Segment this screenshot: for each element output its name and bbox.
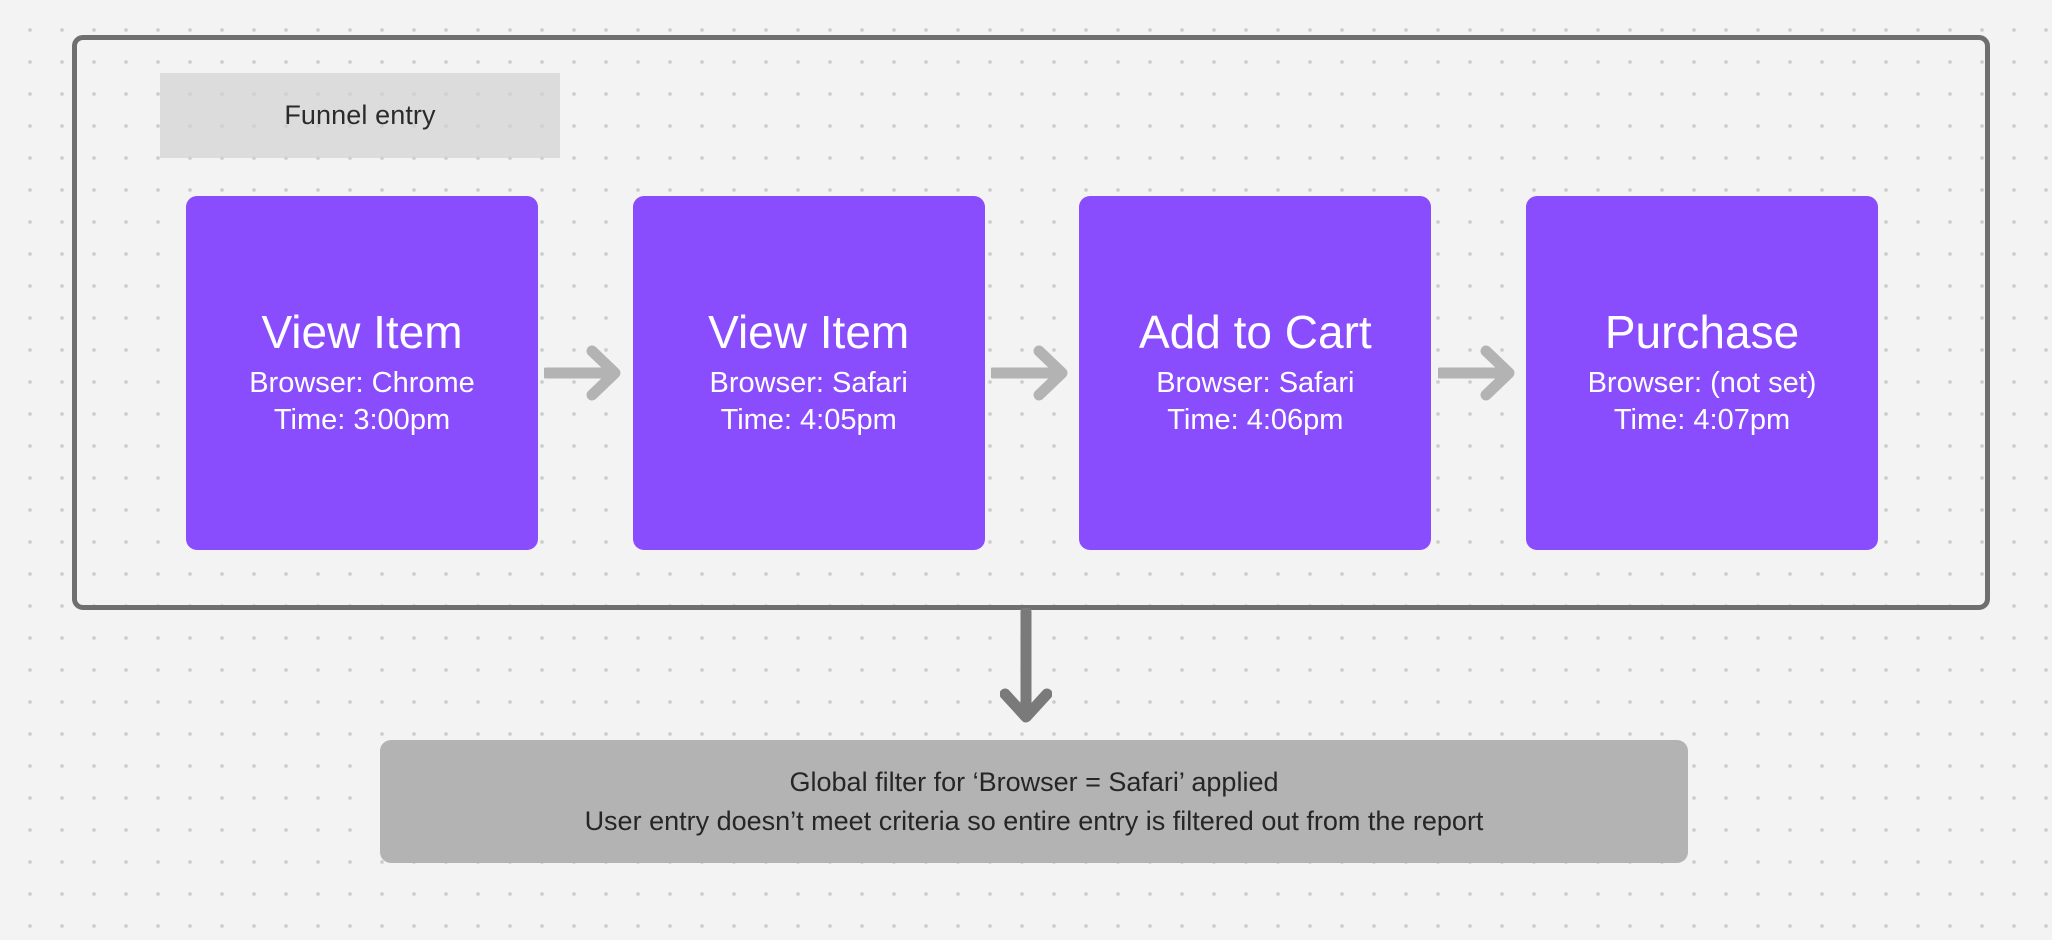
- arrow-right-icon-2: [985, 343, 1080, 403]
- funnel-entry-label-text: Funnel entry: [284, 100, 435, 131]
- funnel-step-card-1[interactable]: View Item Browser: Chrome Time: 3:00pm: [186, 196, 538, 550]
- diagram-canvas: Funnel entry View Item Browser: Chrome T…: [0, 0, 2052, 940]
- funnel-steps-row: View Item Browser: Chrome Time: 3:00pm V…: [186, 196, 1878, 550]
- global-filter-callout: Global filter for ‘Browser = Safari’ app…: [380, 740, 1688, 863]
- arrow-right-icon-1: [538, 343, 633, 403]
- step-title: Purchase: [1605, 307, 1799, 359]
- step-time: Time: 3:00pm: [274, 402, 450, 439]
- arrow-right-icon-3: [1431, 343, 1526, 403]
- step-time: Time: 4:07pm: [1614, 402, 1790, 439]
- step-browser: Browser: Safari: [1156, 365, 1354, 402]
- callout-line-filter: Global filter for ‘Browser = Safari’ app…: [790, 763, 1279, 801]
- step-browser: Browser: Safari: [710, 365, 908, 402]
- step-title: Add to Cart: [1139, 307, 1372, 359]
- step-time: Time: 4:06pm: [1167, 402, 1343, 439]
- callout-line-explanation: User entry doesn’t meet criteria so enti…: [585, 802, 1484, 840]
- step-browser: Browser: (not set): [1588, 365, 1817, 402]
- funnel-entry-label: Funnel entry: [160, 73, 560, 158]
- arrow-down-icon: [1000, 608, 1052, 726]
- funnel-step-card-2[interactable]: View Item Browser: Safari Time: 4:05pm: [633, 196, 985, 550]
- step-browser: Browser: Chrome: [249, 365, 475, 402]
- step-title: View Item: [708, 307, 909, 359]
- step-title: View Item: [261, 307, 462, 359]
- funnel-step-card-3[interactable]: Add to Cart Browser: Safari Time: 4:06pm: [1079, 196, 1431, 550]
- funnel-step-card-4[interactable]: Purchase Browser: (not set) Time: 4:07pm: [1526, 196, 1878, 550]
- step-time: Time: 4:05pm: [721, 402, 897, 439]
